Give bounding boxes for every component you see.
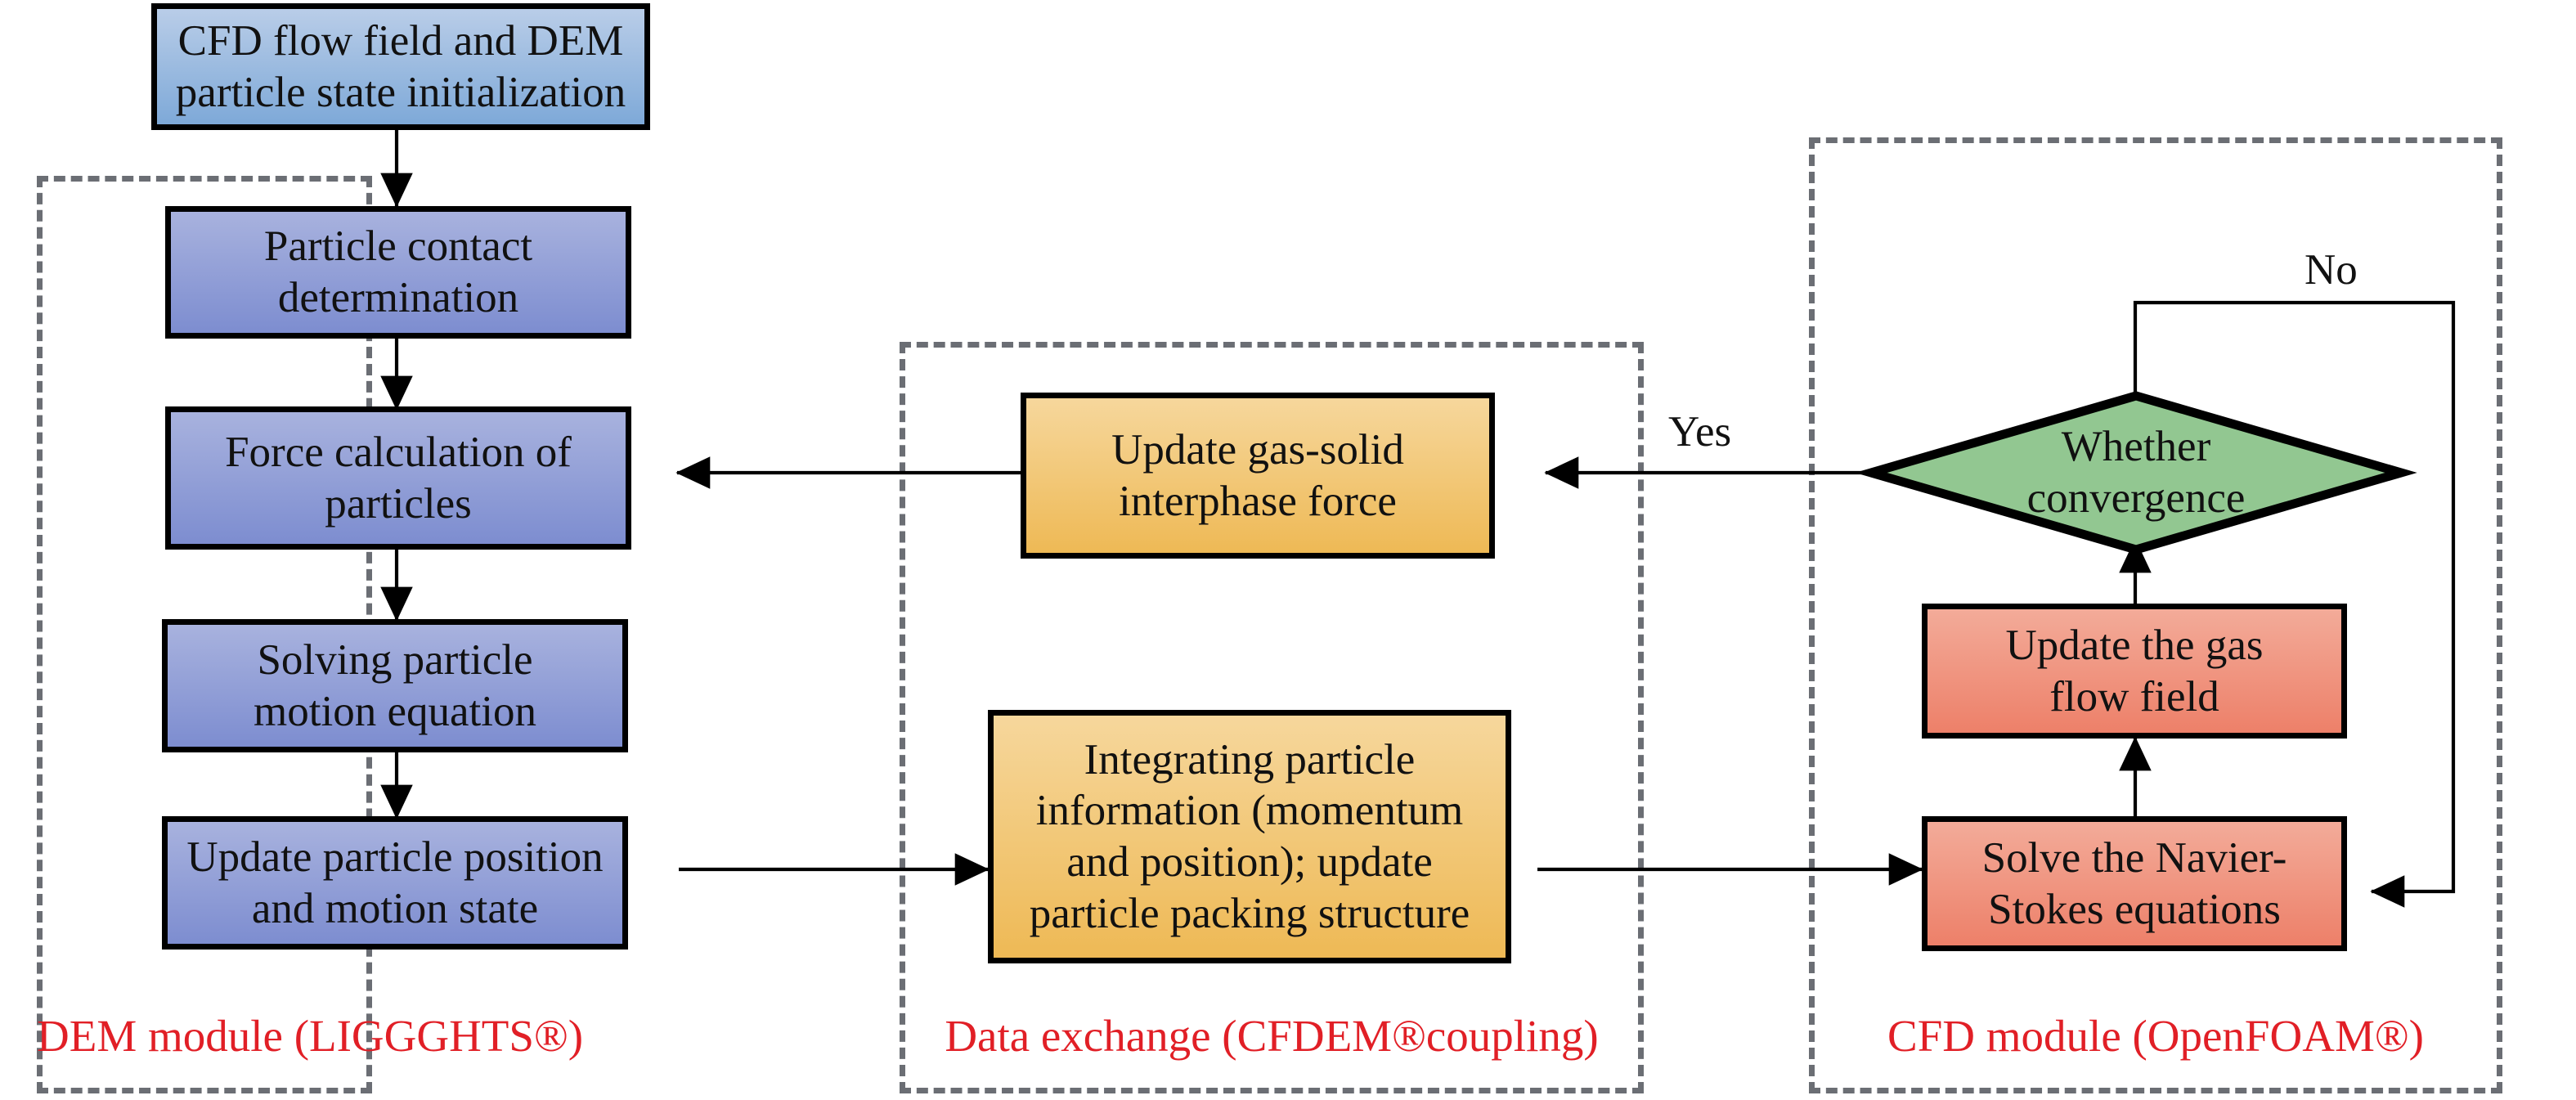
node-whether-convergence[interactable]: Whether convergence — [1866, 391, 2406, 554]
module-caption-dem: DEM module (LIGGGHTS®) — [37, 1010, 372, 1062]
edge-label-yes: Yes — [1668, 407, 1731, 456]
diamond-shape — [1866, 391, 2406, 554]
node-update-particle-position[interactable]: Update particle position and motion stat… — [162, 816, 628, 950]
node-solve-navier-stokes-equations[interactable]: Solve the Navier- Stokes equations — [1922, 816, 2347, 951]
edge-label-no: No — [2304, 245, 2358, 294]
node-particle-contact-determination[interactable]: Particle contact determination — [165, 206, 631, 339]
node-update-gas-solid-interphase-force[interactable]: Update gas-solid interphase force — [1021, 393, 1495, 559]
module-caption-cfd: CFD module (OpenFOAM®) — [1809, 1010, 2502, 1062]
module-caption-data-exchange: Data exchange (CFDEM®coupling) — [900, 1010, 1644, 1062]
node-force-calculation-of-particles[interactable]: Force calculation of particles — [165, 406, 631, 550]
node-start[interactable]: CFD flow field and DEM particle state in… — [151, 3, 650, 130]
node-solving-particle-motion-equation[interactable]: Solving particle motion equation — [162, 619, 628, 752]
node-integrating-particle-information[interactable]: Integrating particle information (moment… — [988, 710, 1511, 963]
flowchart-canvas: CFD flow field and DEM particle state in… — [0, 0, 2576, 1100]
node-update-the-gas-flow-field[interactable]: Update the gas flow field — [1922, 604, 2347, 739]
